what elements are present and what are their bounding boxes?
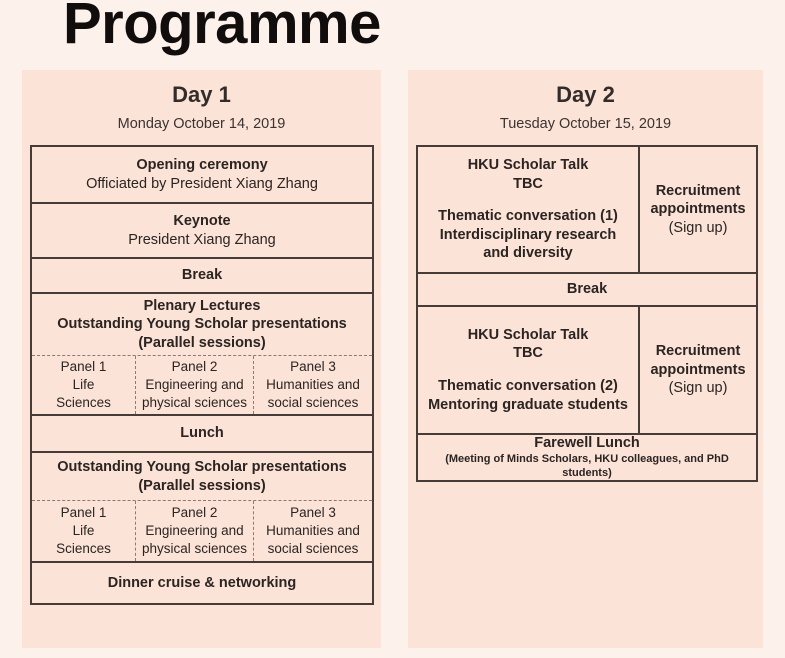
slot-farewell-lunch-subtitle: (Meeting of Minds Scholars, HKU colleagu… [424, 453, 750, 481]
panel-1-label-afternoon: Panel 1 [61, 504, 107, 522]
panel-3-line2-morning: Humanities and [266, 376, 360, 394]
recruitment-appointments-1-line2: appointments [650, 200, 745, 219]
panel-2-label-afternoon: Panel 2 [172, 504, 218, 522]
panel-strip-afternoon: Panel 1 Life Sciences Panel 2 Engineerin… [32, 501, 372, 563]
panel-1-line2-morning: Life [73, 376, 95, 394]
panel-3-label-afternoon: Panel 3 [290, 504, 336, 522]
slot-plenary-lectures[interactable]: Plenary Lectures Outstanding Young Schol… [32, 294, 372, 356]
slot-plenary-lectures-line3: (Parallel sessions) [138, 334, 265, 353]
slot-opening-ceremony[interactable]: Opening ceremony Officiated by President… [32, 147, 372, 204]
slot-opening-ceremony-title: Opening ceremony [136, 156, 267, 175]
slot-outstanding-young-scholar-title: Outstanding Young Scholar presentations [57, 458, 347, 477]
day-2-date: Tuesday October 15, 2019 [408, 117, 763, 133]
slot-keynote-subtitle: President Xiang Zhang [128, 231, 276, 250]
slot-keynote[interactable]: Keynote President Xiang Zhang [32, 204, 372, 259]
panel-cell-3-morning[interactable]: Panel 3 Humanities and social sciences [254, 356, 372, 414]
recruitment-appointments-2-line1: Recruitment [656, 342, 741, 361]
panel-1-line3-afternoon: Sciences [56, 540, 111, 558]
panel-2-line3-afternoon: physical sciences [142, 540, 247, 558]
slot-dinner-cruise[interactable]: Dinner cruise & networking [32, 563, 372, 603]
panel-2-line3-morning: physical sciences [142, 394, 247, 412]
day-1-date: Monday October 14, 2019 [22, 117, 381, 133]
slot-farewell-lunch-title: Farewell Lunch [534, 434, 640, 453]
panel-cell-2-afternoon[interactable]: Panel 2 Engineering and physical science… [136, 501, 254, 561]
slot-farewell-lunch[interactable]: Farewell Lunch (Meeting of Minds Scholar… [418, 435, 756, 480]
day2-block-1: HKU Scholar Talk TBC Thematic conversati… [418, 147, 756, 274]
page-title: Programme [63, 0, 381, 55]
hku-scholar-talk-1-line1: HKU Scholar Talk [468, 156, 589, 175]
panel-3-line2-afternoon: Humanities and [266, 522, 360, 540]
panel-1-line2-afternoon: Life [73, 522, 95, 540]
panel-2-line2-afternoon: Engineering and [145, 522, 243, 540]
slot-plenary-lectures-title: Plenary Lectures [144, 297, 261, 316]
thematic-conversation-1-line2: Interdisciplinary research [440, 226, 617, 245]
day-1-heading: Day 1 [22, 83, 381, 107]
recruitment-appointments-1-line3: (Sign up) [669, 219, 728, 238]
hku-scholar-talk-2-line1: HKU Scholar Talk [468, 326, 589, 345]
recruitment-appointments-2-line2: appointments [650, 361, 745, 380]
slot-break-day1[interactable]: Break [32, 259, 372, 294]
slot-break-day2-title: Break [567, 280, 607, 299]
day-1-schedule: Opening ceremony Officiated by President… [30, 145, 374, 605]
slot-break-day2[interactable]: Break [418, 274, 756, 307]
recruitment-appointments-2[interactable]: Recruitment appointments (Sign up) [640, 307, 756, 433]
day-2-schedule: HKU Scholar Talk TBC Thematic conversati… [416, 145, 758, 482]
slot-lunch[interactable]: Lunch [32, 416, 372, 453]
hku-scholar-talk-2-line2: TBC [513, 344, 543, 363]
panel-cell-1-afternoon[interactable]: Panel 1 Life Sciences [32, 501, 136, 561]
slot-outstanding-young-scholar[interactable]: Outstanding Young Scholar presentations … [32, 453, 372, 501]
panel-2-label-morning: Panel 2 [172, 358, 218, 376]
slot-dinner-cruise-title: Dinner cruise & networking [108, 574, 297, 593]
panel-1-line3-morning: Sciences [56, 394, 111, 412]
slot-plenary-lectures-line2: Outstanding Young Scholar presentations [57, 315, 347, 334]
day-2-heading: Day 2 [408, 83, 763, 107]
panel-3-line3-morning: social sciences [268, 394, 359, 412]
hku-scholar-talk-1-line2: TBC [513, 175, 543, 194]
panel-strip-morning: Panel 1 Life Sciences Panel 2 Engineerin… [32, 356, 372, 416]
hku-scholar-talk-1[interactable]: HKU Scholar Talk TBC Thematic conversati… [418, 147, 640, 272]
recruitment-appointments-2-line3: (Sign up) [669, 379, 728, 398]
slot-break-day1-title: Break [182, 266, 222, 285]
day2-block-2: HKU Scholar Talk TBC Thematic conversati… [418, 307, 756, 435]
slot-opening-ceremony-subtitle: Officiated by President Xiang Zhang [86, 175, 318, 194]
hku-scholar-talk-2[interactable]: HKU Scholar Talk TBC Thematic conversati… [418, 307, 640, 433]
panel-1-label-morning: Panel 1 [61, 358, 107, 376]
thematic-conversation-2-line1: Thematic conversation (2) [438, 377, 618, 396]
thematic-conversation-1-line1: Thematic conversation (1) [438, 207, 618, 226]
panel-cell-2-morning[interactable]: Panel 2 Engineering and physical science… [136, 356, 254, 414]
slot-lunch-title: Lunch [180, 424, 224, 443]
panel-cell-1-morning[interactable]: Panel 1 Life Sciences [32, 356, 136, 414]
panel-2-line2-morning: Engineering and [145, 376, 243, 394]
recruitment-appointments-1-line1: Recruitment [656, 182, 741, 201]
slot-keynote-title: Keynote [173, 212, 230, 231]
recruitment-appointments-1[interactable]: Recruitment appointments (Sign up) [640, 147, 756, 272]
panel-3-line3-afternoon: social sciences [268, 540, 359, 558]
thematic-conversation-1-line3: and diversity [483, 244, 572, 263]
panel-cell-3-afternoon[interactable]: Panel 3 Humanities and social sciences [254, 501, 372, 561]
panel-3-label-morning: Panel 3 [290, 358, 336, 376]
slot-outstanding-young-scholar-line2: (Parallel sessions) [138, 477, 265, 496]
thematic-conversation-2-line2: Mentoring graduate students [428, 396, 628, 415]
